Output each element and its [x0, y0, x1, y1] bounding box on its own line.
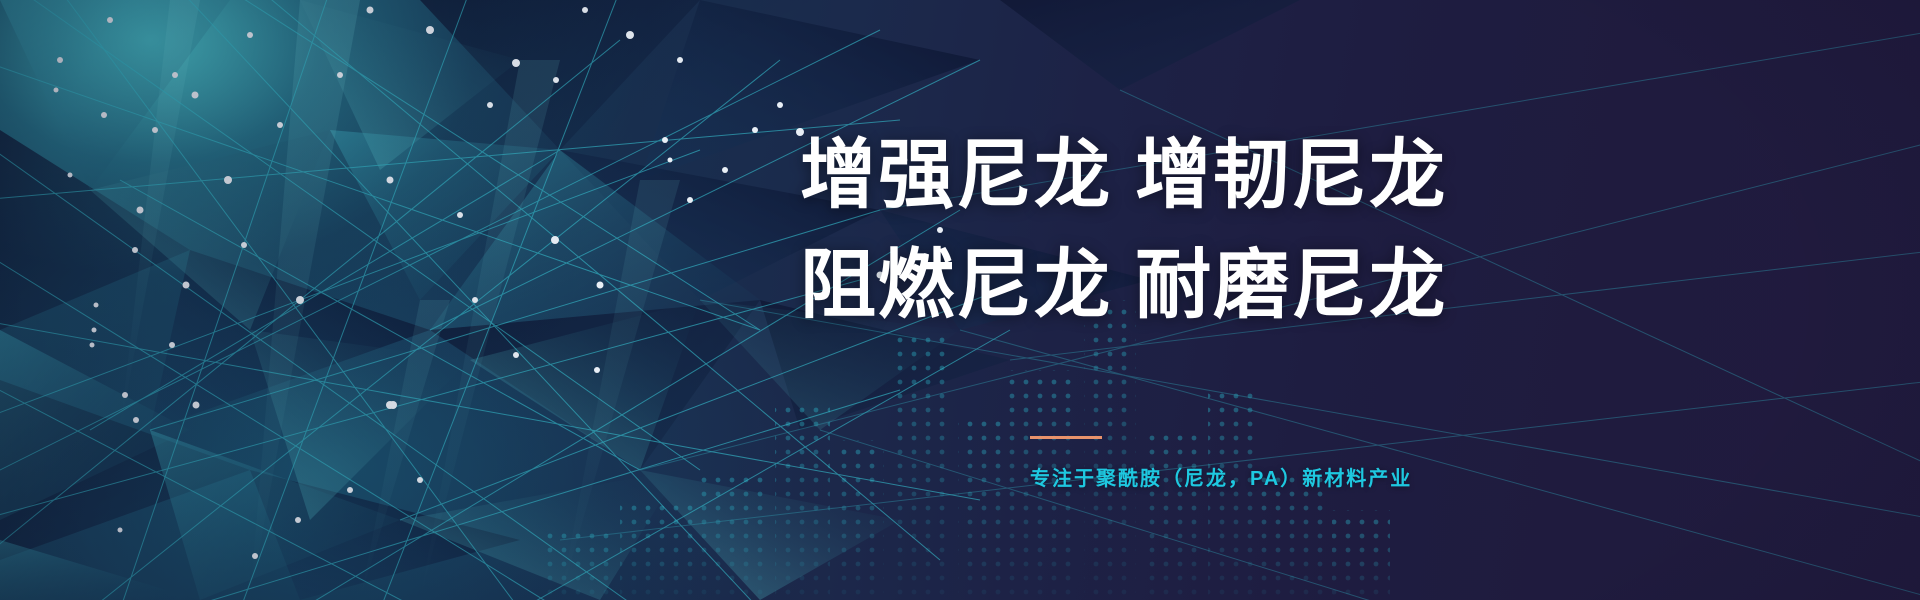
banner-subtitle: 专注于聚酰胺（尼龙，PA）新材料产业 — [1030, 462, 1412, 491]
banner-content: 增强尼龙 增韧尼龙 阻燃尼龙 耐磨尼龙 专注于聚酰胺（尼龙，PA）新材料产业 — [0, 0, 1920, 600]
headline-line-1: 增强尼龙 增韧尼龙 — [800, 138, 1447, 214]
headline-line-2: 阻燃尼龙 耐磨尼龙 — [800, 248, 1447, 324]
hero-banner: 增强尼龙 增韧尼龙 阻燃尼龙 耐磨尼龙 专注于聚酰胺（尼龙，PA）新材料产业 — [0, 0, 1920, 600]
accent-divider — [1030, 436, 1102, 439]
